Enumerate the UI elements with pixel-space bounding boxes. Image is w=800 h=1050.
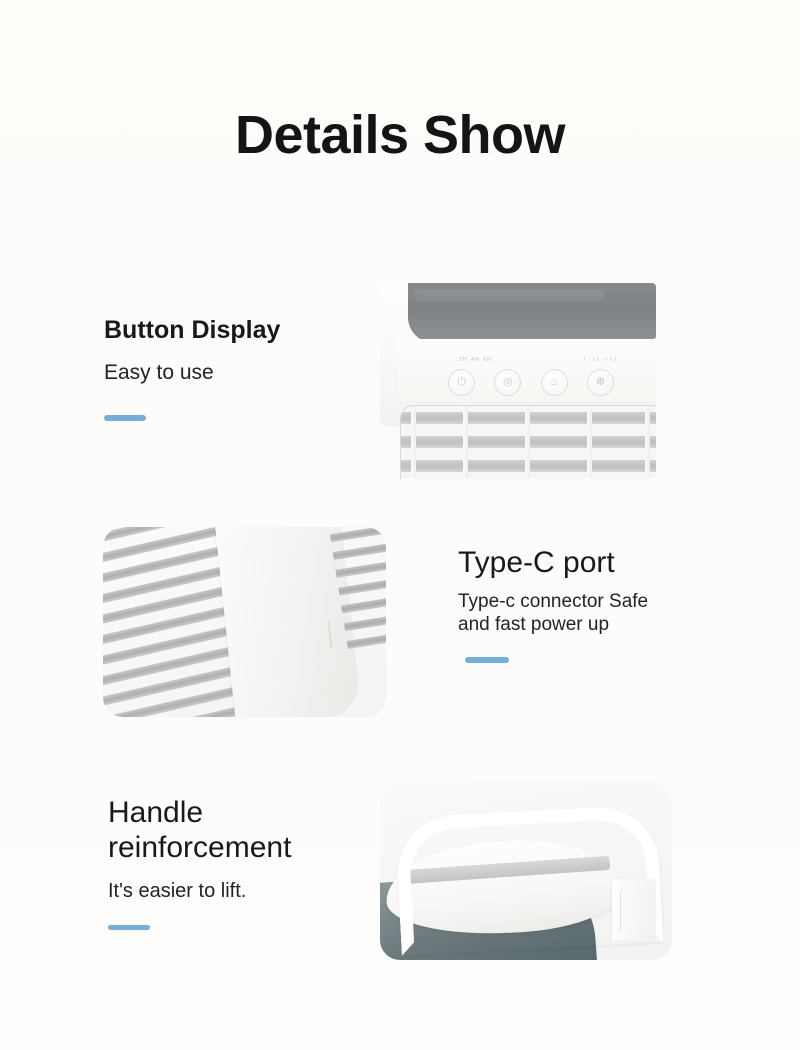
handle-mount-bracket: [612, 879, 656, 941]
section-handle-text: Handle reinforcement It's easier to lift…: [108, 796, 291, 930]
cooler-top-vent-cover: [408, 283, 656, 343]
section-subtitle-handle: It's easier to lift.: [108, 879, 291, 903]
speed-indicator-label: I II III: [584, 357, 619, 363]
power-icon: ⏻: [448, 369, 475, 396]
fan-speed-icon: ❆: [587, 369, 614, 396]
section-subtitle-button-display: Easy to use: [104, 360, 280, 385]
section-heading-typec: Type-C port: [458, 546, 648, 581]
accent-bar-handle: [108, 925, 150, 930]
section-subtitle-typec: Type-c connector Safe and fast power up: [458, 591, 648, 637]
humidify-icon: ♨: [541, 369, 568, 396]
timer-indicator-label: 2H 4H 6H: [459, 357, 492, 363]
product-image-carry-handle: [380, 783, 672, 960]
section-heading-handle: Handle reinforcement: [108, 796, 291, 866]
accent-bar-typec: [465, 657, 509, 663]
product-details-page: Details Show 2H 4H 6H I II III ⏻ ◎ ♨ ❆: [0, 0, 800, 1050]
section-button-display-text: Button Display Easy to use: [104, 316, 280, 421]
front-air-vent: [400, 405, 656, 479]
section-heading-button-display: Button Display: [104, 316, 280, 345]
page-title: Details Show: [0, 108, 800, 162]
mode-icon: ◎: [494, 369, 521, 396]
product-image-louver-grille: [103, 527, 386, 717]
product-image-control-panel: 2H 4H 6H I II III ⏻ ◎ ♨ ❆: [380, 283, 656, 479]
accent-bar-button-display: [104, 415, 146, 421]
control-button-row: ⏻ ◎ ♨ ❆: [448, 367, 614, 397]
section-typec-text: Type-C port Type-c connector Safe and fa…: [458, 546, 648, 663]
panel-seam: [328, 621, 333, 649]
